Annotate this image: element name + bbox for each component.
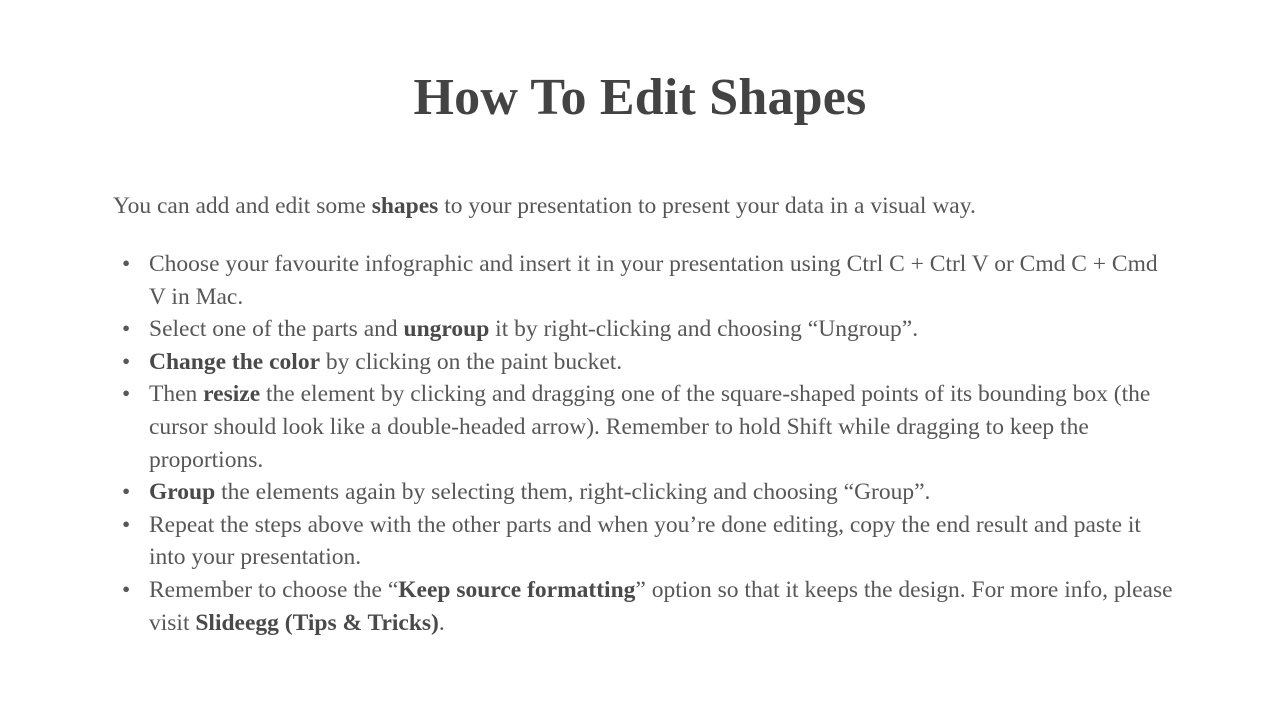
- bullet-keep-source-formatting: Remember to choose the “Keep source form…: [149, 577, 1173, 636]
- body-text: Remember to choose the “: [149, 577, 398, 603]
- body-text: Select one of the parts and: [149, 316, 404, 342]
- emphasis-text: Keep source formatting: [398, 577, 635, 603]
- emphasis-text: Slideegg (Tips & Tricks): [195, 610, 439, 636]
- intro-bold-shapes: shapes: [372, 193, 439, 219]
- list-item: •Then resize the element by clicking and…: [113, 378, 1175, 476]
- list-item: •Select one of the parts and ungroup it …: [113, 313, 1175, 346]
- bullet-resize: Then resize the element by clicking and …: [149, 381, 1150, 472]
- list-item: •Choose your favourite infographic and i…: [113, 248, 1175, 313]
- emphasis-text: resize: [203, 381, 260, 407]
- bullet-dot-icon: •: [122, 574, 136, 607]
- body-text: Repeat the steps above with the other pa…: [149, 512, 1141, 571]
- slide-canvas: How To Edit Shapes You can add and edit …: [0, 0, 1280, 720]
- body-text: by clicking on the paint bucket.: [320, 349, 622, 375]
- emphasis-text: ungroup: [404, 316, 490, 342]
- bullet-dot-icon: •: [122, 509, 136, 542]
- body-text: the elements again by selecting them, ri…: [215, 479, 930, 505]
- intro-text-after: to your presentation to present your dat…: [438, 193, 976, 219]
- list-item: •Remember to choose the “Keep source for…: [113, 574, 1175, 639]
- bullet-dot-icon: •: [122, 313, 136, 346]
- instruction-list: •Choose your favourite infographic and i…: [113, 248, 1175, 639]
- body-text: it by right-clicking and choosing “Ungro…: [489, 316, 918, 342]
- list-item: •Repeat the steps above with the other p…: [113, 509, 1175, 574]
- bullet-ungroup: Select one of the parts and ungroup it b…: [149, 316, 918, 342]
- body-text: the element by clicking and dragging one…: [149, 381, 1150, 472]
- emphasis-text: Change the color: [149, 349, 320, 375]
- bullet-group: Group the elements again by selecting th…: [149, 479, 930, 505]
- intro-paragraph: You can add and edit some shapes to your…: [113, 191, 1173, 223]
- bullet-dot-icon: •: [122, 476, 136, 509]
- list-item: •Group the elements again by selecting t…: [113, 476, 1175, 509]
- body-text: .: [439, 610, 445, 636]
- list-item: •Change the color by clicking on the pai…: [113, 346, 1175, 379]
- bullet-dot-icon: •: [122, 378, 136, 411]
- bullet-dot-icon: •: [122, 248, 136, 281]
- emphasis-text: Group: [149, 479, 215, 505]
- bullet-repeat: Repeat the steps above with the other pa…: [149, 512, 1141, 571]
- intro-text-before: You can add and edit some: [113, 193, 372, 219]
- bullet-change-color: Change the color by clicking on the pain…: [149, 349, 622, 375]
- body-text: Then: [149, 381, 203, 407]
- bullet-insert-infographic: Choose your favourite infographic and in…: [149, 251, 1158, 310]
- body-text: Choose your favourite infographic and in…: [149, 251, 1158, 310]
- bullet-dot-icon: •: [122, 346, 136, 379]
- page-title: How To Edit Shapes: [0, 68, 1280, 128]
